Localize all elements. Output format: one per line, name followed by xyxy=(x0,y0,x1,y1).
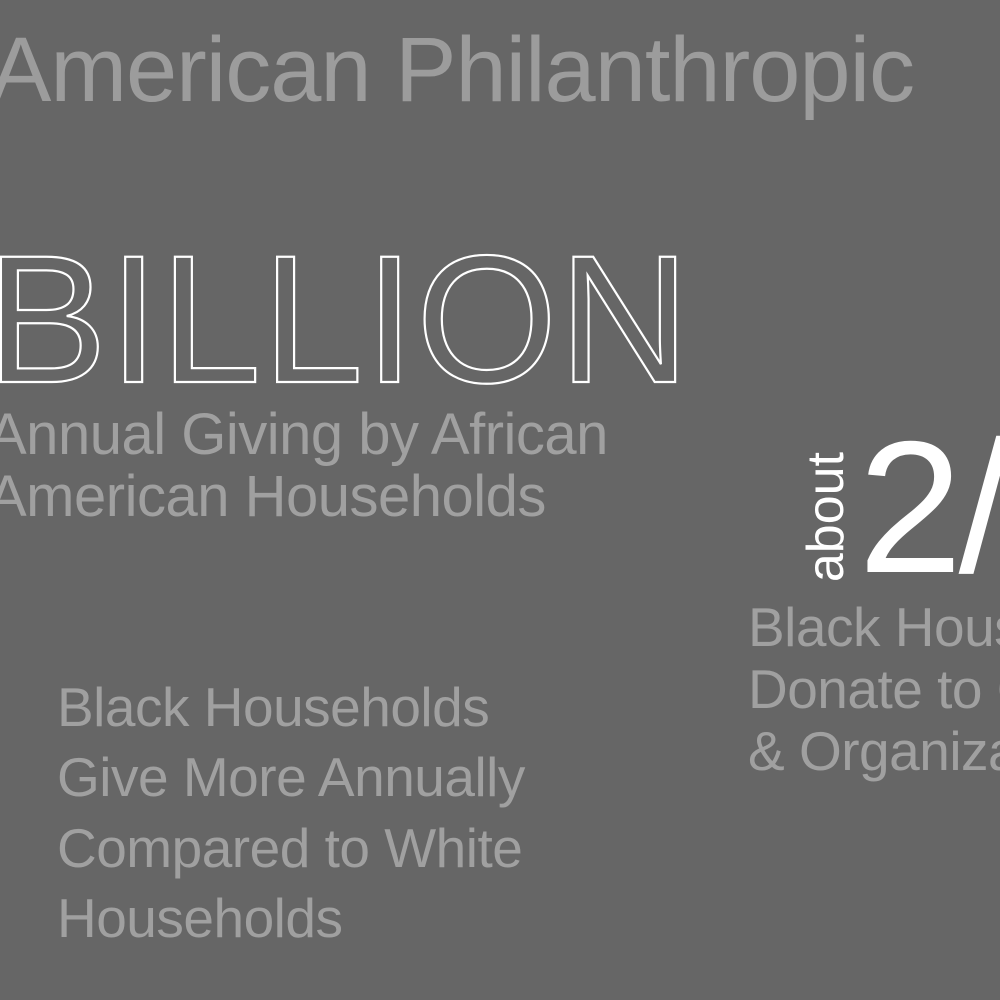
billion-headline: BILLION xyxy=(0,228,691,410)
billion-subtitle: Annual Giving by African American Househ… xyxy=(0,404,608,528)
stat-caption-line-3: & Organizations xyxy=(748,720,1000,782)
billion-subtitle-line-2: American Households xyxy=(0,466,608,528)
comparison-line-3: Compared to White xyxy=(57,813,525,883)
comparison-line-1: Black Households xyxy=(57,672,525,742)
stat-fraction-value: 2/3 xyxy=(858,430,1000,584)
comparison-line-4: Households xyxy=(57,883,525,953)
billion-subtitle-line-1: Annual Giving by African xyxy=(0,404,608,466)
infographic-poster: American Philanthropic BILLION Annual Gi… xyxy=(0,0,1000,1000)
comparison-copy: Black Households Give More Annually Comp… xyxy=(57,672,525,954)
fraction-stat-block: about 2/3 xyxy=(800,408,1000,584)
stat-qualifier-label: about xyxy=(800,452,852,582)
stat-caption-line-2: Donate to Causes xyxy=(748,658,1000,720)
stat-caption: Black Households Donate to Causes & Orga… xyxy=(748,596,1000,782)
brand-title: American Philanthropic xyxy=(0,22,1000,119)
stat-caption-line-1: Black Households xyxy=(748,596,1000,658)
comparison-line-2: Give More Annually xyxy=(57,742,525,812)
